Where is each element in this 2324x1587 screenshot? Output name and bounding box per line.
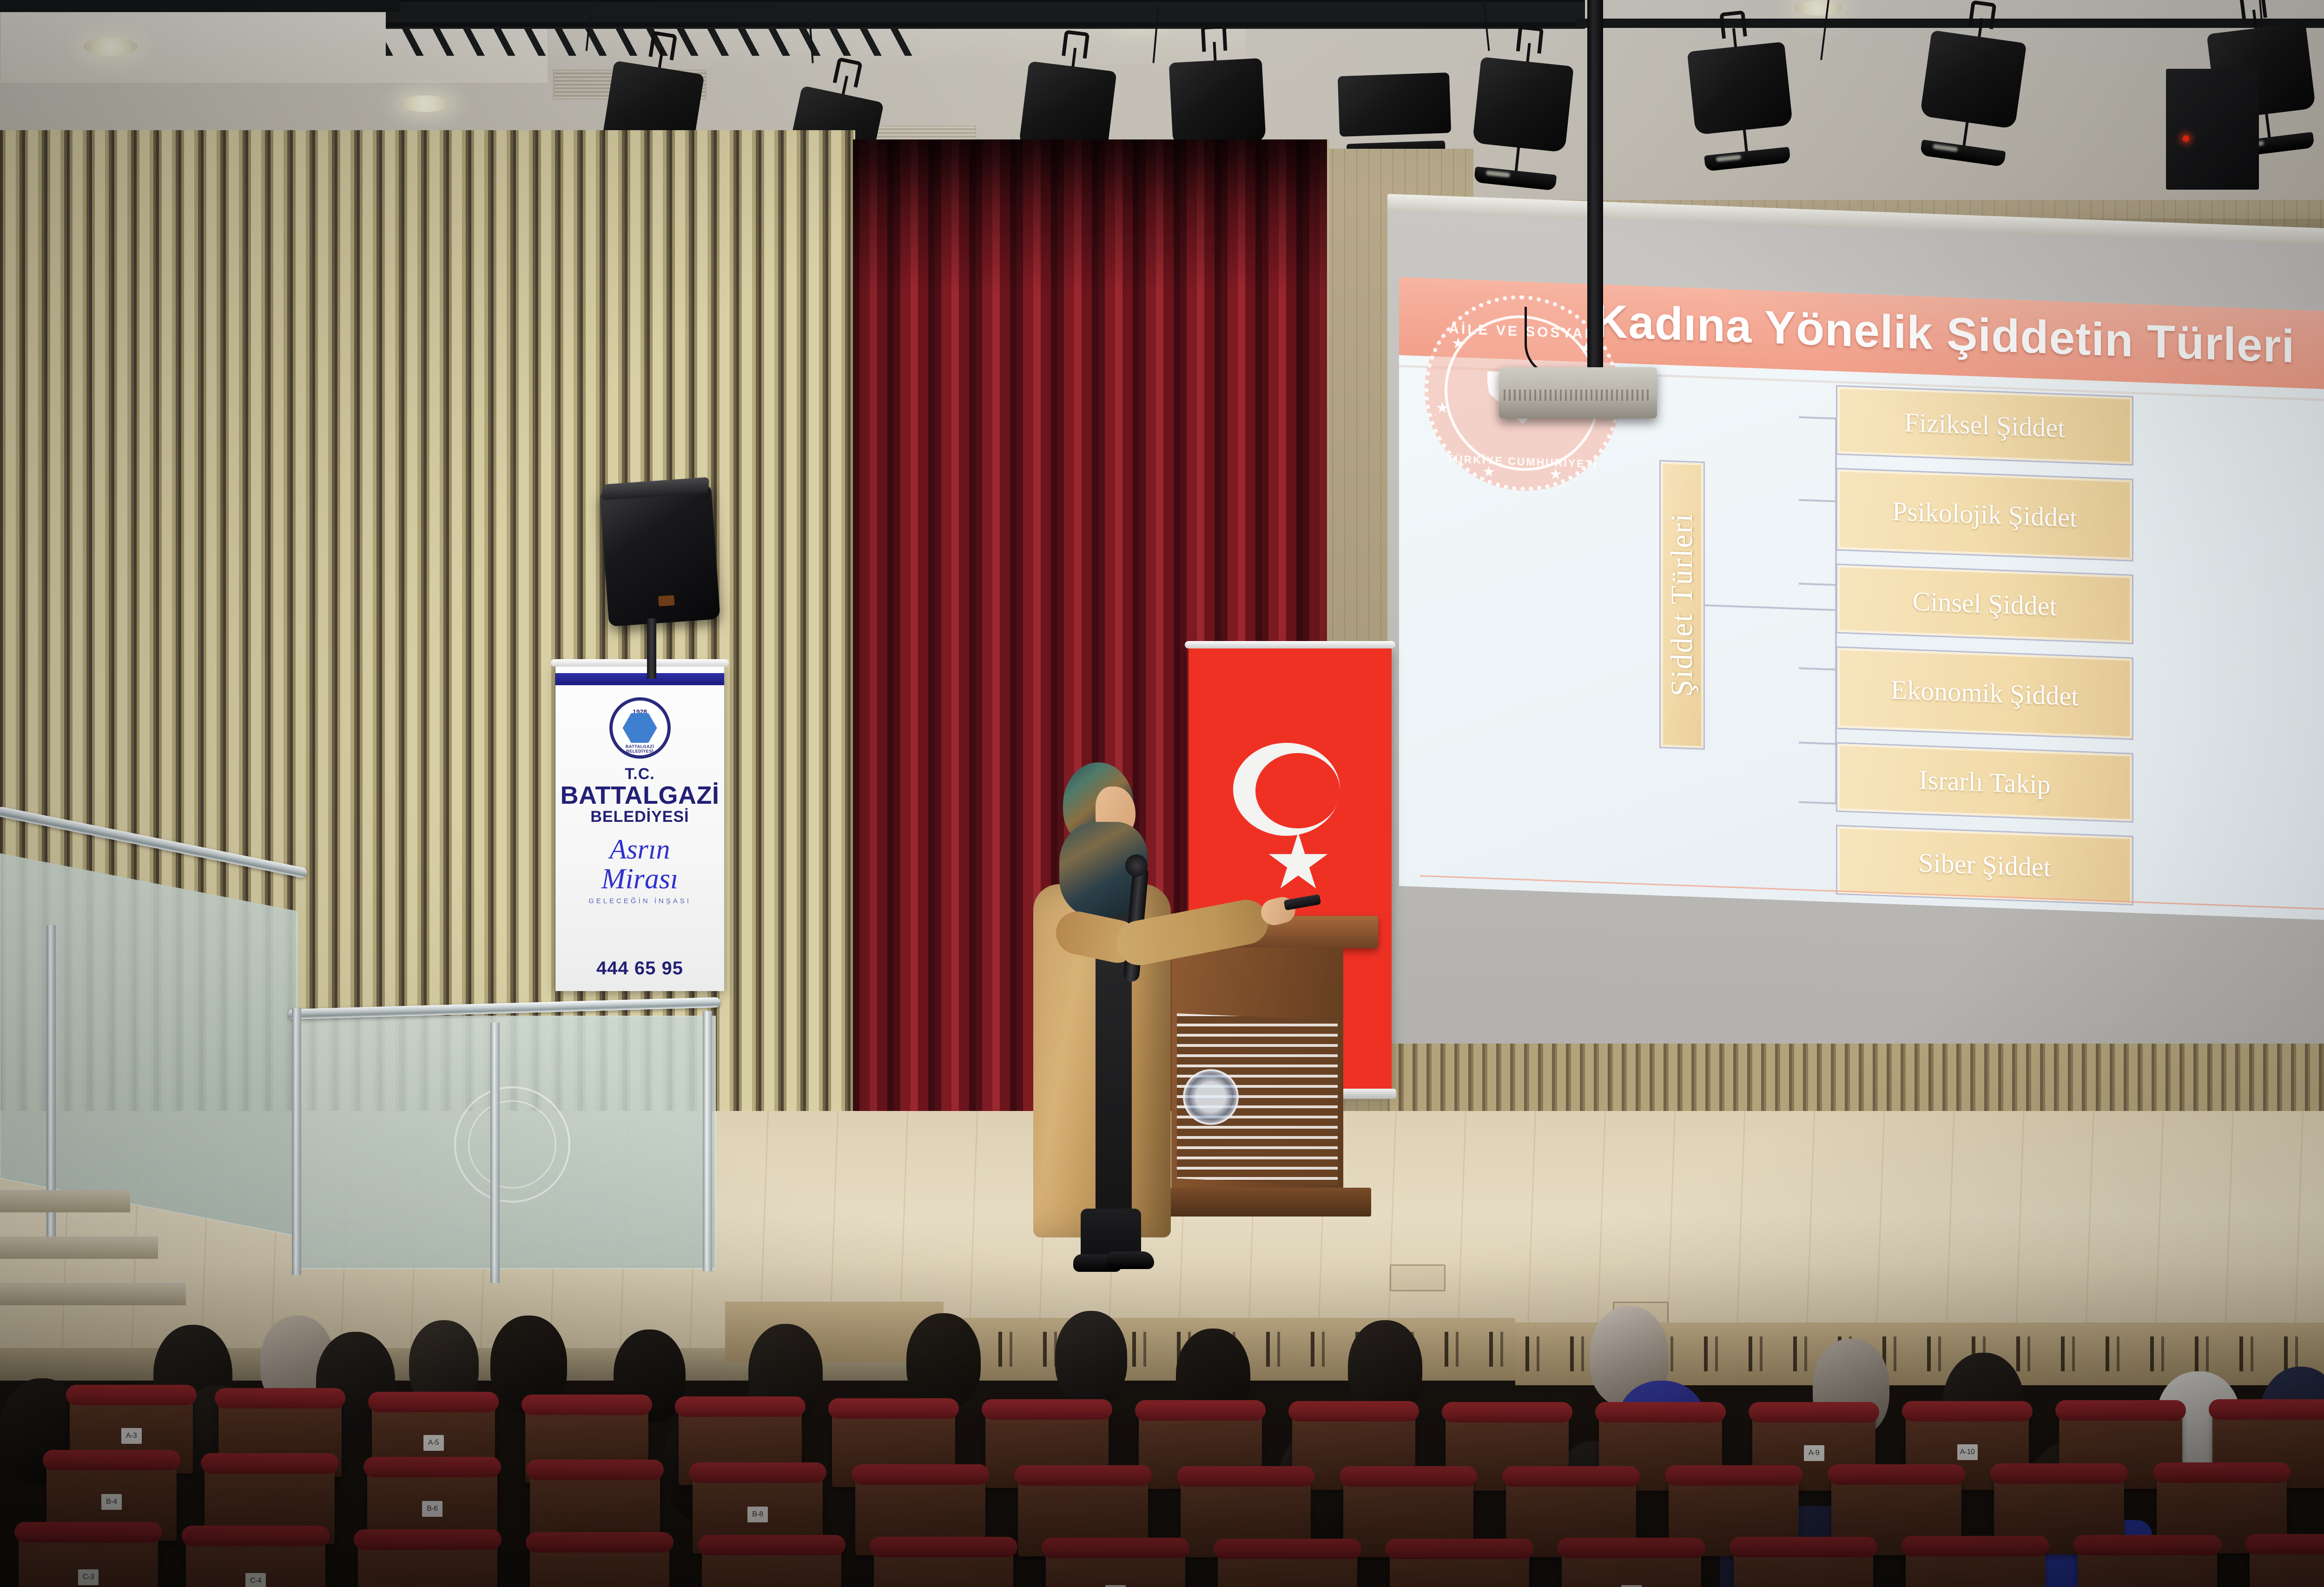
ceiling-light-icon — [1794, 0, 1842, 16]
theater-seat[interactable] — [1390, 1546, 1529, 1587]
stage-spotlight-icon — [1337, 54, 1452, 155]
seat-number-tag: A-9 — [1804, 1445, 1824, 1461]
theater-seat[interactable] — [2078, 1542, 2217, 1587]
banner-municipality-name: BATTALGAZİ — [555, 781, 724, 810]
theater-seat[interactable] — [1218, 1546, 1357, 1587]
diagram-leaf: Ekonomik Şiddet — [1836, 646, 2133, 740]
flag-top-rail — [1185, 641, 1395, 648]
theater-seat[interactable] — [1734, 1544, 1873, 1587]
glass-railing-panel — [0, 853, 297, 1237]
diagram-leaf: Cinsel Şiddet — [1836, 563, 2133, 644]
glass-railing-panel — [297, 1016, 716, 1269]
theater-seat[interactable] — [702, 1542, 841, 1587]
stage-spotlight-icon — [1685, 23, 1796, 167]
banner-accent-strip — [555, 673, 724, 685]
microphone-head-icon — [1125, 854, 1148, 877]
theater-seat[interactable]: C-8 — [1562, 1545, 1701, 1587]
logo-ring-text: BATTALGAZİ BELEDİYESİ — [613, 744, 667, 754]
banner-slogan-sub: GELECEĞİN İNŞASI — [555, 897, 724, 905]
seat-number-tag: B-8 — [747, 1507, 768, 1522]
diagram-leaf: Psikolojik Şiddet — [1836, 468, 2133, 561]
municipality-banner: 1928 BATTALGAZİ BELEDİYESİ T.C. BATTALGA… — [555, 666, 724, 991]
diagram-leaf-list: Fiziksel Şiddet Psikolojik Şiddet Cinsel… — [1836, 385, 2133, 918]
banner-slogan-line1: Asrın — [555, 837, 724, 862]
pa-loudspeaker — [600, 484, 720, 627]
audience-person-head — [1055, 1311, 1127, 1404]
lighting-truss — [386, 0, 1585, 29]
audience-person-head — [906, 1313, 981, 1408]
seat-number-tag: C-8 — [1621, 1585, 1642, 1587]
audience-seating: A-3 A-5 A-9 A-10 B-4 B-6 B-8 C-3 C-4 — [0, 1288, 2324, 1587]
theater-seat[interactable]: C-7 — [1046, 1545, 1185, 1587]
violence-types-diagram: Şiddet Türleri Fiziksel Şiddet Psikoloji… — [1399, 355, 2324, 922]
railing-post — [490, 1023, 500, 1283]
stage-wainscot — [1387, 1044, 2324, 1113]
theater-seat[interactable] — [874, 1544, 1013, 1587]
banner-slogan-line2: Mirası — [555, 863, 724, 896]
banner-rail — [551, 659, 729, 667]
railing-post — [703, 1011, 712, 1271]
wall-mounted-device — [2166, 69, 2259, 190]
ceiling-projector — [1499, 367, 1657, 418]
banner-municipality-suffix: BELEDİYESİ — [555, 808, 724, 826]
ceiling-beam — [0, 0, 400, 12]
stage-spotlight-icon — [1469, 38, 1576, 186]
theater-seat[interactable] — [2250, 1541, 2324, 1587]
stage-spotlight-icon — [1915, 12, 2029, 163]
banner-phone-number: 444 65 95 — [555, 958, 724, 979]
theater-seat[interactable] — [358, 1537, 497, 1587]
seat-number-tag: C-7 — [1105, 1585, 1126, 1587]
ceiling-light-icon — [400, 95, 450, 112]
speaker-stand — [647, 618, 656, 679]
speaker-person — [1030, 762, 1183, 1274]
theater-seat[interactable] — [1906, 1543, 2045, 1587]
seat-number-tag: B-4 — [101, 1494, 122, 1510]
diagram-leaf: Fiziksel Şiddet — [1836, 385, 2133, 465]
speaker-shoe — [1106, 1251, 1154, 1269]
auditorium-scene: AİLE VE SOSYAL TÜRKİYE CUMHURİYETİ Kadın… — [0, 0, 2324, 1587]
seat-number-tag: A-5 — [423, 1435, 444, 1451]
diagram-root-box: Şiddet Türleri — [1659, 460, 1705, 750]
theater-seat[interactable]: C-3 — [19, 1529, 158, 1587]
projector-cable — [1525, 307, 1594, 377]
diagram-leaf: Israrlı Takip — [1836, 742, 2133, 822]
seat-number-tag: C-3 — [78, 1569, 99, 1585]
theater-seat[interactable]: C-4 — [186, 1533, 325, 1587]
podium-emblem-icon — [1183, 1069, 1239, 1125]
stair-step — [0, 1237, 158, 1259]
seat-number-tag: B-6 — [422, 1501, 442, 1517]
seat-number-tag: C-4 — [245, 1573, 266, 1587]
speaker-brand-badge — [658, 595, 674, 606]
status-led-icon — [2183, 135, 2189, 142]
crescent-icon — [1233, 743, 1340, 850]
theater-seat[interactable] — [530, 1540, 669, 1587]
municipal-seal-etching-icon — [454, 1086, 570, 1203]
stair-step — [0, 1190, 130, 1212]
ceiling-light-icon — [84, 37, 138, 56]
seat-number-tag: A-3 — [121, 1428, 142, 1444]
diagram-root-label: Şiddet Türleri — [1664, 512, 1700, 697]
railing-post — [292, 1008, 301, 1275]
seat-number-tag: A-10 — [1957, 1444, 1978, 1460]
battalgazi-logo-icon: 1928 BATTALGAZİ BELEDİYESİ — [609, 697, 671, 759]
